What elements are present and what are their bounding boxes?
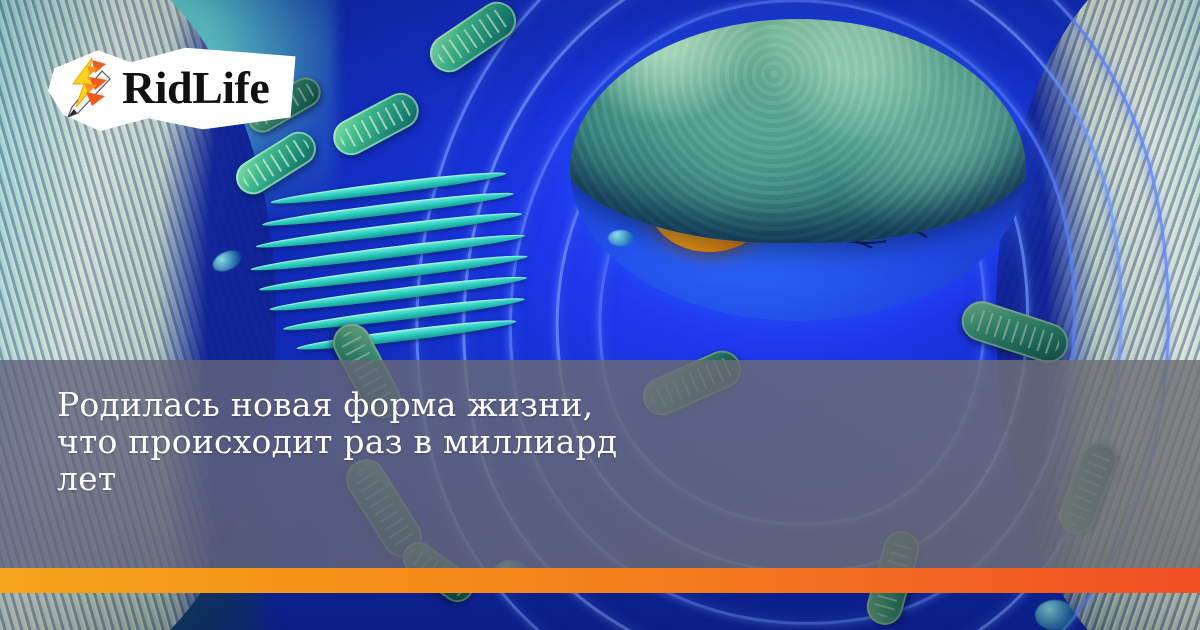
accent-bar (0, 568, 1200, 593)
site-logo[interactable]: RidLife (48, 46, 298, 132)
site-logo-text: RidLife (122, 65, 269, 111)
lightning-pencil-icon (62, 57, 120, 121)
article-share-card: RidLife Родилась новая форма жизни, что … (0, 0, 1200, 630)
headline: Родилась новая форма жизни, что происход… (57, 386, 817, 497)
